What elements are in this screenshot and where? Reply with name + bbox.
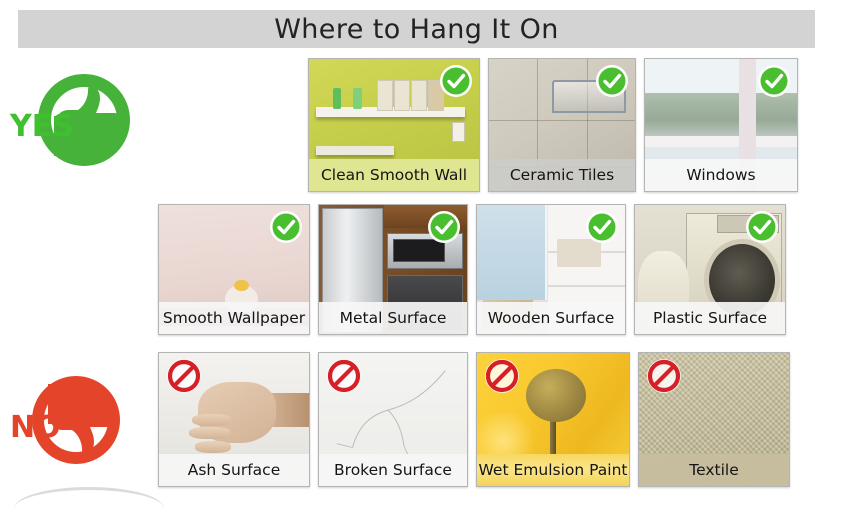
green-check-badge-icon [585,210,619,244]
page-title-bar: Where to Hang It On [18,10,815,48]
surface-card[interactable]: Windows [644,58,798,192]
surface-row-1: Clean Smooth Wall Ceramic Tiles [308,58,798,192]
red-prohibition-badge-icon [483,357,521,395]
surface-card[interactable]: Wooden Surface [476,204,626,335]
card-label: Metal Surface [319,302,467,334]
surface-card[interactable]: Wet Emulsion Paint [476,352,630,487]
surface-card[interactable]: Ash Surface [158,352,310,487]
green-check-badge-icon [745,210,779,244]
red-prohibition-badge-icon [325,357,363,395]
card-label: Textile [639,454,789,486]
surface-card[interactable]: Smooth Wallpaper [158,204,310,335]
bottom-decorative-arc [14,487,164,530]
card-label: Ash Surface [159,454,309,486]
verdict-no-label: NO [10,410,61,445]
surface-card[interactable]: Broken Surface [318,352,468,487]
surface-card[interactable]: Textile [638,352,790,487]
card-label: Windows [645,159,797,191]
verdict-yes-label: YES [10,109,74,144]
surface-row-3: Ash Surface Broken Surface [158,352,790,487]
surface-card[interactable]: Ceramic Tiles [488,58,636,192]
surface-card[interactable]: Metal Surface [318,204,468,335]
card-label: Plastic Surface [635,302,785,334]
card-label: Smooth Wallpaper [159,302,309,334]
surface-card[interactable]: Plastic Surface [634,204,786,335]
green-check-badge-icon [269,210,303,244]
card-label: Clean Smooth Wall [309,159,479,191]
card-label: Wooden Surface [477,302,625,334]
surface-card[interactable]: Clean Smooth Wall [308,58,480,192]
green-check-badge-icon [427,210,461,244]
card-label: Wet Emulsion Paint [477,454,629,486]
green-check-badge-icon [757,64,791,98]
card-label: Ceramic Tiles [489,159,635,191]
page-title: Where to Hang It On [274,14,559,45]
verdict-no: NO [2,362,152,482]
card-label: Broken Surface [319,454,467,486]
red-prohibition-badge-icon [645,357,683,395]
green-check-badge-icon [595,64,629,98]
green-check-badge-icon [439,64,473,98]
surface-row-2: Smooth Wallpaper Metal Surface [158,204,786,335]
verdict-yes: YES [2,62,152,182]
red-prohibition-badge-icon [165,357,203,395]
